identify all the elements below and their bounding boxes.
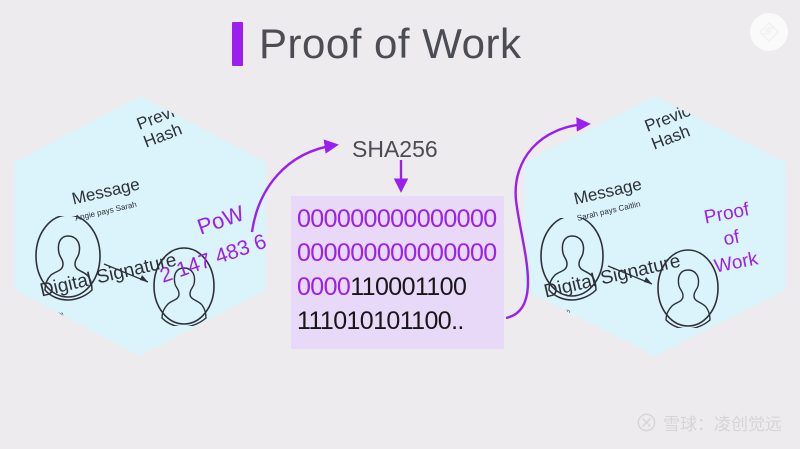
hash-line: 0000110001100 <box>297 270 497 304</box>
hash-leading-zeros: 0000 <box>297 273 350 301</box>
hash-line: 111010101100.. <box>297 304 497 338</box>
sha256-label: SHA256 <box>352 136 438 163</box>
hash-leading-zeros: 000000000000000 <box>297 205 497 233</box>
block-left-content: Previous Hash Message Angie pays Sarah A… <box>14 96 266 356</box>
pow-line2: of <box>722 227 742 251</box>
slide-canvas: Proof of Work Previous Hash Message Angi… <box>0 0 800 449</box>
pow-line3: Work <box>713 249 760 278</box>
watermark-text: 雪球：凌创觉远 <box>663 410 782 435</box>
hash-line: 000000000000000 <box>297 202 497 236</box>
previous-hash-label-right: Previous Hash <box>642 94 717 153</box>
sender-name-left: Angie <box>48 312 64 321</box>
hash-digits: 0000000000000000000000000000000000110001… <box>297 202 497 338</box>
page-title: Proof of Work <box>232 20 521 68</box>
block-left: Previous Hash Message Angie pays Sarah A… <box>14 96 266 356</box>
block-right-content: Previous Hash Message Sarah pays Caitlin… <box>524 96 786 356</box>
receiver-name-right: Caitlin <box>648 354 666 364</box>
pow-line1: Proof <box>702 199 751 228</box>
xueqiu-circle-icon <box>637 413 656 432</box>
hash-leading-zeros: 000000000000000 <box>297 239 497 267</box>
title-accent-bar <box>232 22 243 66</box>
receiver-name-left: Sarah <box>142 354 159 363</box>
watermark: 雪球：凌创觉远 <box>637 410 782 435</box>
s-diamond-logo-icon <box>750 13 788 51</box>
sender-name-right: Sarah <box>554 309 571 318</box>
page-title-text: Proof of Work <box>259 20 521 68</box>
block-right: Previous Hash Message Sarah pays Caitlin… <box>524 96 786 356</box>
hash-output-box: 0000000000000000000000000000000000110001… <box>291 196 504 349</box>
hash-digits-rest: 111010101100.. <box>297 307 464 335</box>
hash-digits-rest: 110001100 <box>350 273 466 301</box>
hash-line: 000000000000000 <box>297 236 497 270</box>
previous-hash-label-left: Previous Hash <box>134 92 209 151</box>
